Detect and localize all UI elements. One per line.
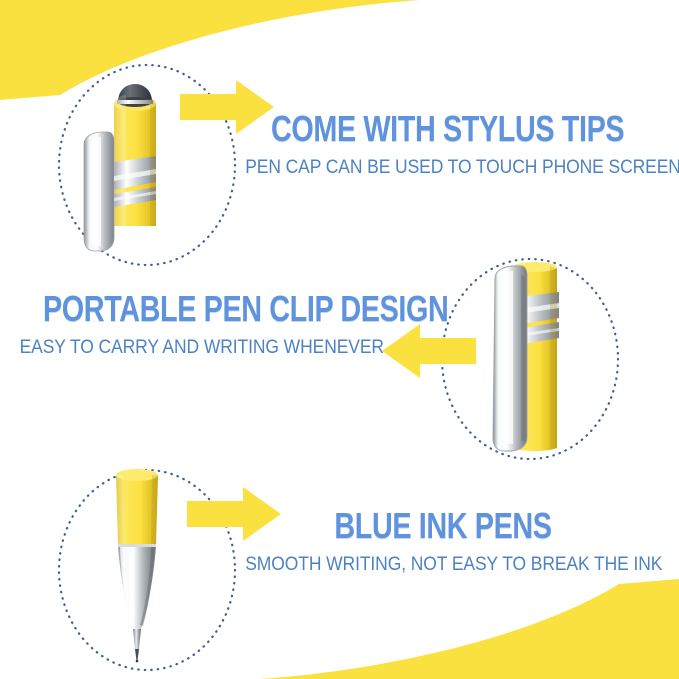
feature-text-stylus-tips: COME WITH STYLUS TIPS PEN CAP CAN BE USE… (228, 110, 658, 180)
feature-subline: PEN CAP CAN BE USED TO TOUCH PHONE SCREE… (245, 156, 641, 180)
feature-stylus-tips: COME WITH STYLUS TIPS PEN CAP CAN BE USE… (0, 0, 679, 226)
feature-subline: SMOOTH WRITING, NOT EASY TO BREAK THE IN… (245, 553, 641, 577)
feature-headline: BLUE INK PENS (271, 507, 615, 545)
feature-headline: PORTABLE PEN CLIP DESIGN (43, 290, 355, 328)
feature-text-blue-ink: BLUE INK PENS SMOOTH WRITING, NOT EASY T… (228, 507, 658, 577)
feature-text-pen-clip: PORTABLE PEN CLIP DESIGN EASY TO CARRY A… (4, 290, 394, 360)
arrow-left-icon (380, 322, 478, 380)
feature-subline: EASY TO CARRY AND WRITING WHENEVER (20, 336, 379, 360)
product-feature-poster: COME WITH STYLUS TIPS PEN CAP CAN BE USE… (0, 0, 679, 679)
feature-pen-clip: PORTABLE PEN CLIP DESIGN EASY TO CARRY A… (0, 226, 679, 452)
feature-headline: COME WITH STYLUS TIPS (271, 110, 615, 148)
feature-blue-ink: BLUE INK PENS SMOOTH WRITING, NOT EASY T… (0, 453, 679, 679)
